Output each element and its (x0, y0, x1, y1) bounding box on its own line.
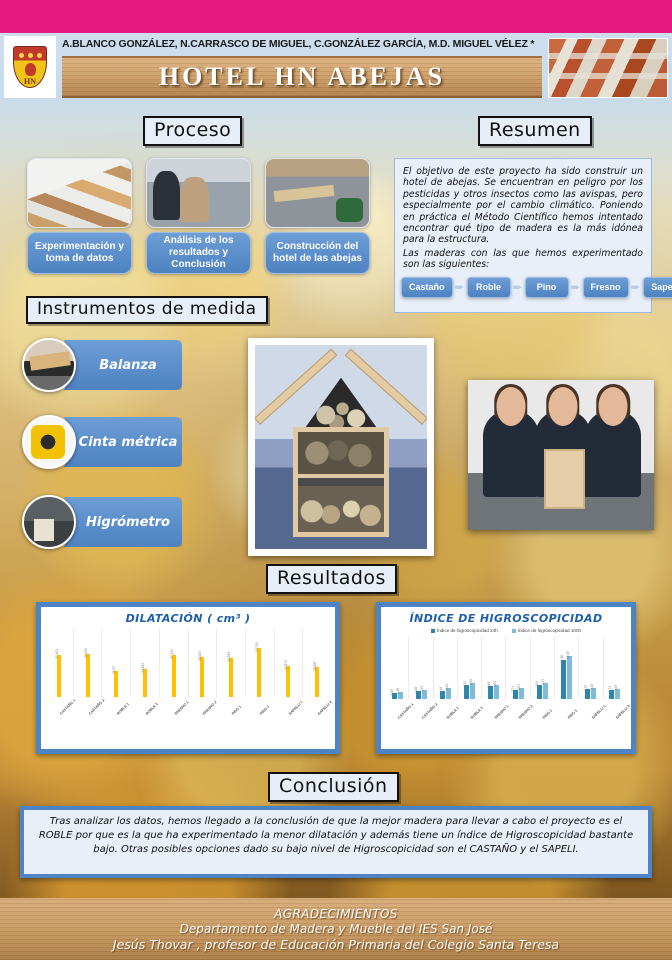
bar: 2,55 (422, 690, 427, 699)
x-axis-tick-label: CASTAÑO 2 (74, 711, 103, 741)
bar-group: 37,403 (45, 629, 74, 697)
bar-value-label: 4,09 (535, 681, 539, 687)
bar-group: 4,094,57 (530, 637, 554, 699)
chart-dilatacion-xaxis: CASTAÑO 1CASTAÑO 2ROBLE 1ROBLE 2FRESNO 1… (45, 711, 331, 741)
x-axis-tick-label: ROBLE 2 (458, 715, 482, 745)
x-axis-tick-label: CASTAÑO 1 (45, 711, 74, 741)
bar-value-label: 3,19 (590, 684, 594, 690)
bar: 11,36 (561, 660, 566, 699)
bar-group: 2,743,05 (603, 637, 627, 699)
bar: 3,05 (615, 689, 620, 699)
process-step-1: Experimentación y toma de datos (27, 158, 132, 274)
x-axis-tick-label: CASTAÑO 1 (385, 715, 409, 745)
bar-value-label: 24,664 (141, 663, 145, 673)
bar-value-label: 2,74 (608, 686, 612, 692)
bar-value-label: 2,48 (439, 686, 443, 692)
instrument-balanza-label: Balanza (64, 340, 182, 390)
bar: 43,791 (257, 648, 261, 697)
poster-canvas: XXIII Reunión Científica para alumnos de… (0, 0, 672, 960)
instrument-higrometro-label: Higrómetro (64, 497, 182, 547)
experiment-photo (27, 158, 132, 228)
bar-value-label: 4,59 (469, 679, 473, 685)
x-axis-tick-label: FRESNO 2 (506, 715, 530, 745)
chart-dilatacion-title: DILATACIÓN ( cm³ ) (41, 607, 335, 625)
bar: 4,22 (464, 685, 469, 699)
bar: 34,383 (229, 658, 233, 697)
x-axis-tick-label: ROBLE 1 (102, 711, 131, 741)
instrument-cinta-metrica: Cinta métrica (22, 415, 182, 469)
bar: 4,04 (494, 685, 499, 699)
page-title: HOTEL HN ABEJAS (62, 56, 542, 98)
bar: 24,664 (143, 669, 147, 697)
bar-group: 2,262,55 (409, 637, 433, 699)
authors-line: A.BLANCO GONZÁLEZ, N.CARRASCO DE MIGUEL,… (62, 38, 542, 54)
chart-higroscopicidad: ÍNDICE DE HIGROSCOPICIDAD Índice de higr… (376, 602, 636, 754)
x-axis-tick-label: FRESNO 2 (188, 711, 217, 741)
chart-dilatacion-plot: 37,40338,52423,3724,66437,13436,00334,38… (45, 629, 331, 697)
wood-chip-fresno: Fresno (583, 277, 629, 298)
chart-bars: 1,691,962,262,552,483,294,224,593,664,04… (385, 637, 627, 699)
bar-group: 11,3612,45 (554, 637, 578, 699)
acknowledgements-line-3: Jesús Thovar , profesor de Educación Pri… (113, 937, 559, 952)
x-axis-tick-label: SAPELLI 2 (302, 711, 331, 741)
bar-value-label: 12,45 (566, 651, 570, 659)
balance-scale-photo (22, 338, 76, 392)
section-heading-resultados: Resultados (266, 564, 397, 594)
bar-group: 2,483,29 (433, 637, 457, 699)
conclusion-text: Tras analizar los datos, hemos llegado a… (24, 810, 648, 862)
bar-value-label: 3,29 (445, 684, 449, 690)
school-shield-icon: HN (4, 36, 56, 98)
section-heading-proceso: Proceso (143, 116, 242, 146)
bar: 37,403 (57, 655, 61, 697)
bar-value-label: 1,69 (390, 689, 394, 695)
bar-value-label: 23,37 (112, 666, 116, 674)
process-step-1-label: Experimentación y toma de datos (27, 232, 132, 274)
bar-value-label: 3,07 (517, 684, 521, 690)
instrument-higrometro: Higrómetro (22, 495, 182, 549)
bar-value-label: 27,873 (284, 660, 288, 670)
arrow-right-icon: ➨ (511, 280, 525, 294)
bar-value-label: 37,134 (170, 649, 174, 659)
bee-hotel-photo (248, 338, 434, 556)
x-axis-tick-label: FRESNO 1 (482, 715, 506, 745)
section-heading-resumen: Resumen (478, 116, 592, 146)
resumen-panel: El objetivo de este proyecto ha sido con… (394, 158, 652, 313)
x-axis-tick-label: ROBLE 2 (131, 711, 160, 741)
x-axis-tick-label: FRESNO 1 (159, 711, 188, 741)
hygrometer-photo (22, 495, 76, 549)
bar: 1,96 (398, 692, 403, 699)
bar-group: 36,003 (188, 629, 217, 697)
bar-group: 26,687 (302, 629, 331, 697)
venue-photo (548, 38, 668, 98)
bar-value-label: 34,383 (227, 652, 231, 662)
bar-value-label: 4,22 (463, 680, 467, 686)
wood-chip-list: Castaño ➨ Roble ➨ Pino ➨ Fresno ➨ Sapeli (395, 271, 651, 305)
bar-group: 3,664,04 (482, 637, 506, 699)
arrow-right-icon: ➨ (569, 280, 583, 294)
section-heading-conclusion: Conclusión (268, 772, 399, 802)
bar: 3,07 (519, 688, 524, 699)
wood-chip-pino: Pino (525, 277, 569, 298)
bar: 2,79 (585, 689, 590, 699)
bar-group: 2,743,07 (506, 637, 530, 699)
acknowledgements-title: AGRADECIMIENTOS (274, 907, 398, 922)
process-step-2-label: Análisis de los resultados y Conclusión (146, 232, 251, 274)
bar: 3,29 (446, 688, 451, 699)
bar: 3,19 (591, 688, 596, 699)
header-band (0, 0, 672, 33)
process-step-3: Construcción del hotel de las abejas (265, 158, 370, 274)
conclusion-panel: Tras analizar los datos, hemos llegado a… (20, 806, 652, 878)
bar-group: 24,664 (131, 629, 160, 697)
bar-value-label: 36,003 (198, 651, 202, 661)
legend-item-0: Índice de higroscopicidad 24h (431, 628, 498, 633)
bar-group: 23,37 (102, 629, 131, 697)
tape-measure-photo (22, 415, 76, 469)
bar-value-label: 2,74 (511, 686, 515, 692)
x-axis-tick-label: SAPELLI 1 (579, 715, 603, 745)
instrument-balanza: Balanza (22, 338, 182, 392)
bar: 36,003 (200, 657, 204, 698)
bar: 4,09 (537, 685, 542, 699)
bar-group: 37,134 (159, 629, 188, 697)
instrument-cinta-metrica-label: Cinta métrica (64, 417, 182, 467)
bar: 4,59 (470, 683, 475, 699)
students-team-photo (468, 380, 654, 530)
bar-group: 2,793,19 (579, 637, 603, 699)
resumen-paragraph-1: El objetivo de este proyecto ha sido con… (395, 159, 651, 246)
wood-chip-sapeli: Sapeli (643, 277, 672, 298)
bar-value-label: 43,791 (255, 642, 259, 652)
bar: 3,66 (488, 686, 493, 699)
chart-higroscopicidad-plot: 1,691,962,262,552,483,294,224,593,664,04… (385, 637, 627, 699)
section-heading-instrumentos: Instrumentos de medida (26, 296, 268, 324)
bar-value-label: 26,687 (313, 661, 317, 671)
bar: 38,524 (86, 654, 90, 697)
bar-value-label: 11,36 (560, 655, 564, 663)
bar: 2,26 (416, 691, 421, 699)
chart-dilatacion: DILATACIÓN ( cm³ ) 37,40338,52423,3724,6… (36, 602, 340, 754)
bar-group: 34,383 (217, 629, 246, 697)
process-step-2: Análisis de los resultados y Conclusión (146, 158, 251, 274)
x-axis-tick-label: SAPELLI 1 (274, 711, 303, 741)
bar-group: 38,524 (74, 629, 103, 697)
wood-chip-roble: Roble (467, 277, 511, 298)
bar: 37,134 (172, 655, 176, 697)
bar: 4,57 (543, 683, 548, 699)
bar: 2,74 (513, 690, 518, 699)
bar-value-label: 3,66 (487, 682, 491, 688)
bar-value-label: 4,04 (493, 681, 497, 687)
wood-chip-castano: Castaño (401, 277, 453, 298)
bar-value-label: 2,26 (414, 687, 418, 693)
legend-swatch (431, 629, 435, 633)
bar: 23,37 (114, 671, 118, 697)
legend-item-1: Índice de higroscopicidad 100h (512, 628, 581, 633)
construction-photo (265, 158, 370, 228)
x-axis-tick-label: PINO 1 (530, 715, 554, 745)
x-axis-tick-label: ROBLE 1 (433, 715, 457, 745)
x-axis-tick-label: SAPELLI 2 (603, 715, 627, 745)
arrow-right-icon: ➨ (629, 280, 643, 294)
bar-value-label: 4,57 (541, 679, 545, 685)
shield-label: HN (14, 77, 46, 86)
bar-value-label: 37,403 (55, 649, 59, 659)
bar-group: 4,224,59 (458, 637, 482, 699)
acknowledgements-footer: AGRADECIMIENTOS Departamento de Madera y… (0, 898, 672, 960)
legend-swatch (512, 629, 516, 633)
x-axis-tick-label: PINO 1 (217, 711, 246, 741)
chart-bars: 37,40338,52423,3724,66437,13436,00334,38… (45, 629, 331, 697)
bar-value-label: 3,05 (614, 684, 618, 690)
bar: 26,687 (315, 667, 319, 697)
chart-higroscopicidad-title: ÍNDICE DE HIGROSCOPICIDAD (381, 607, 631, 625)
x-axis-tick-label: CASTAÑO 2 (409, 715, 433, 745)
bar-value-label: 2,55 (420, 686, 424, 692)
x-axis-tick-label: PINO 2 (554, 715, 578, 745)
bar: 2,48 (440, 691, 445, 700)
page-title-text: HOTEL HN ABEJAS (159, 62, 445, 92)
bar: 27,873 (286, 666, 290, 697)
bar-value-label: 1,96 (396, 688, 400, 694)
bar-group: 1,691,96 (385, 637, 409, 699)
bar-value-label: 2,79 (584, 685, 588, 691)
chart-higroscopicidad-legend: Índice de higroscopicidad 24hÍndice de h… (381, 625, 631, 633)
bar-group: 27,873 (274, 629, 303, 697)
x-axis-tick-label: PINO 2 (245, 711, 274, 741)
acknowledgements-line-2: Departamento de Madera y Mueble del IES … (180, 922, 493, 937)
bar-group: 43,791 (245, 629, 274, 697)
arrow-right-icon: ➨ (453, 280, 467, 294)
bar: 12,45 (567, 656, 572, 699)
resumen-paragraph-2: Las maderas con las que hemos experiment… (395, 246, 651, 271)
chart-higroscopicidad-xaxis: CASTAÑO 1CASTAÑO 2ROBLE 1ROBLE 2FRESNO 1… (385, 715, 627, 745)
process-step-3-label: Construcción del hotel de las abejas (265, 232, 370, 274)
analysis-photo (146, 158, 251, 228)
bar-value-label: 38,524 (84, 648, 88, 658)
